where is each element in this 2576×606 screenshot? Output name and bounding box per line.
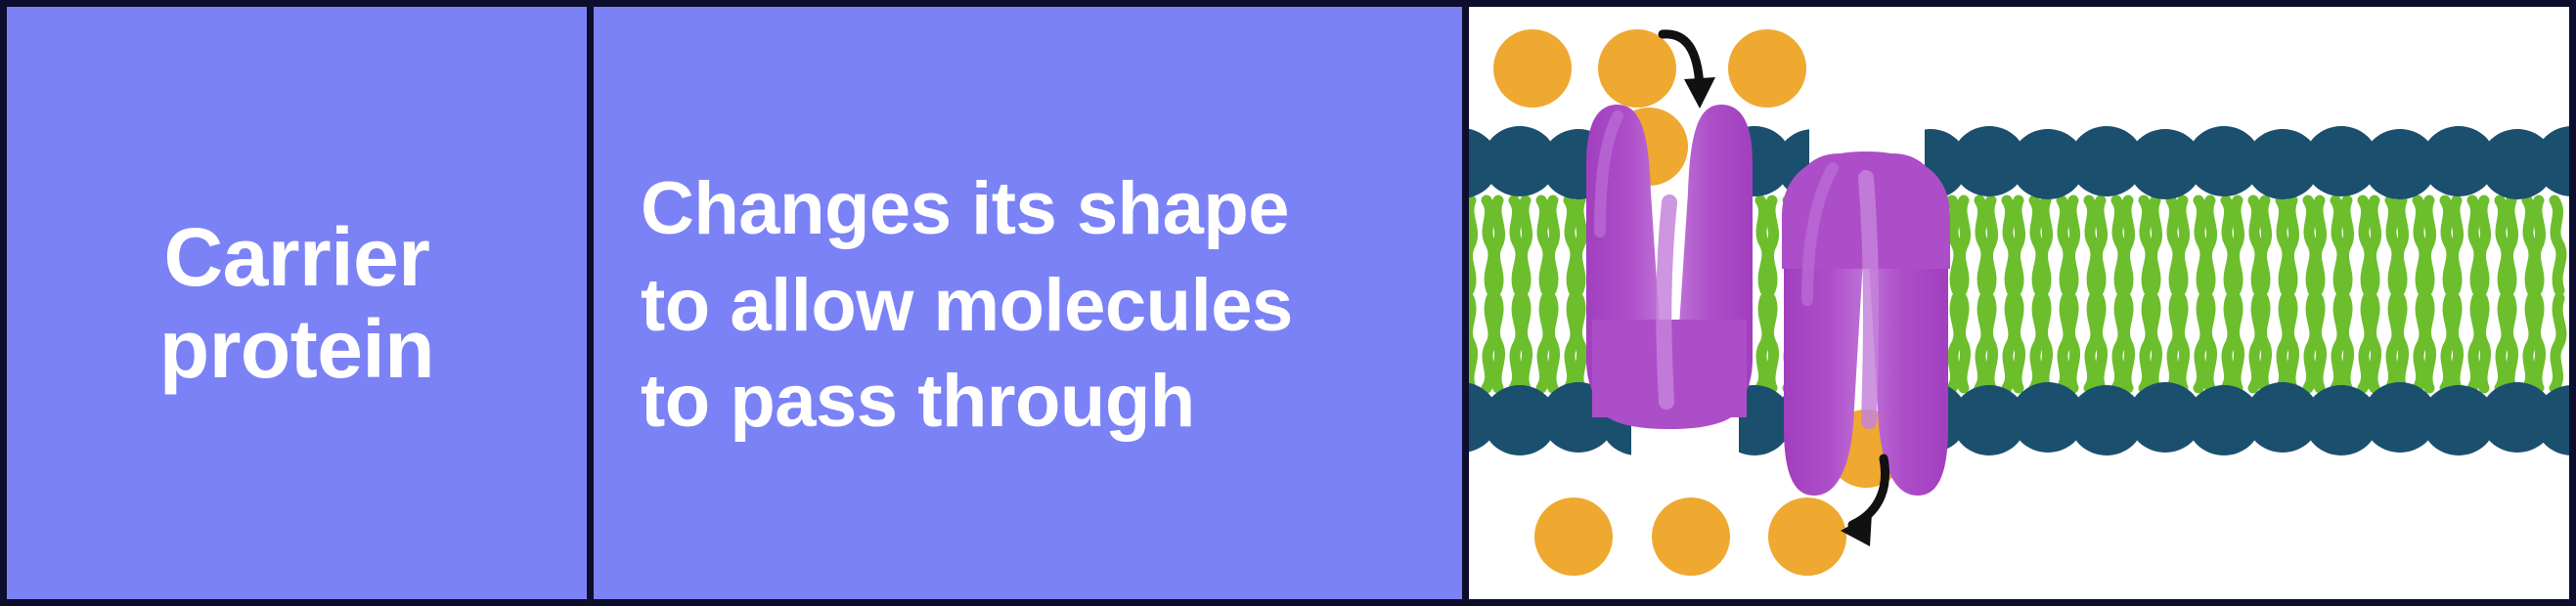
carrier-protein-table-row: Carrier protein Changes its shape to all…	[0, 0, 2576, 606]
membrane-diagram	[1469, 7, 2569, 599]
molecule-outside-1	[1493, 29, 1572, 108]
molecule-inside-3	[1768, 498, 1846, 576]
table-row: Carrier protein Changes its shape to all…	[0, 0, 2576, 606]
molecule-outside-2	[1598, 29, 1676, 108]
description-label: Changes its shape to allow molecules to …	[594, 155, 1293, 451]
term-label: Carrier protein	[159, 211, 434, 395]
molecule-outside-3	[1728, 29, 1806, 108]
table-cell-figure	[1462, 7, 2569, 599]
molecule-inside-2	[1652, 498, 1730, 576]
molecule-inside-1	[1534, 498, 1613, 576]
table-cell-term: Carrier protein	[7, 7, 587, 599]
table-cell-description: Changes its shape to allow molecules to …	[587, 7, 1462, 599]
